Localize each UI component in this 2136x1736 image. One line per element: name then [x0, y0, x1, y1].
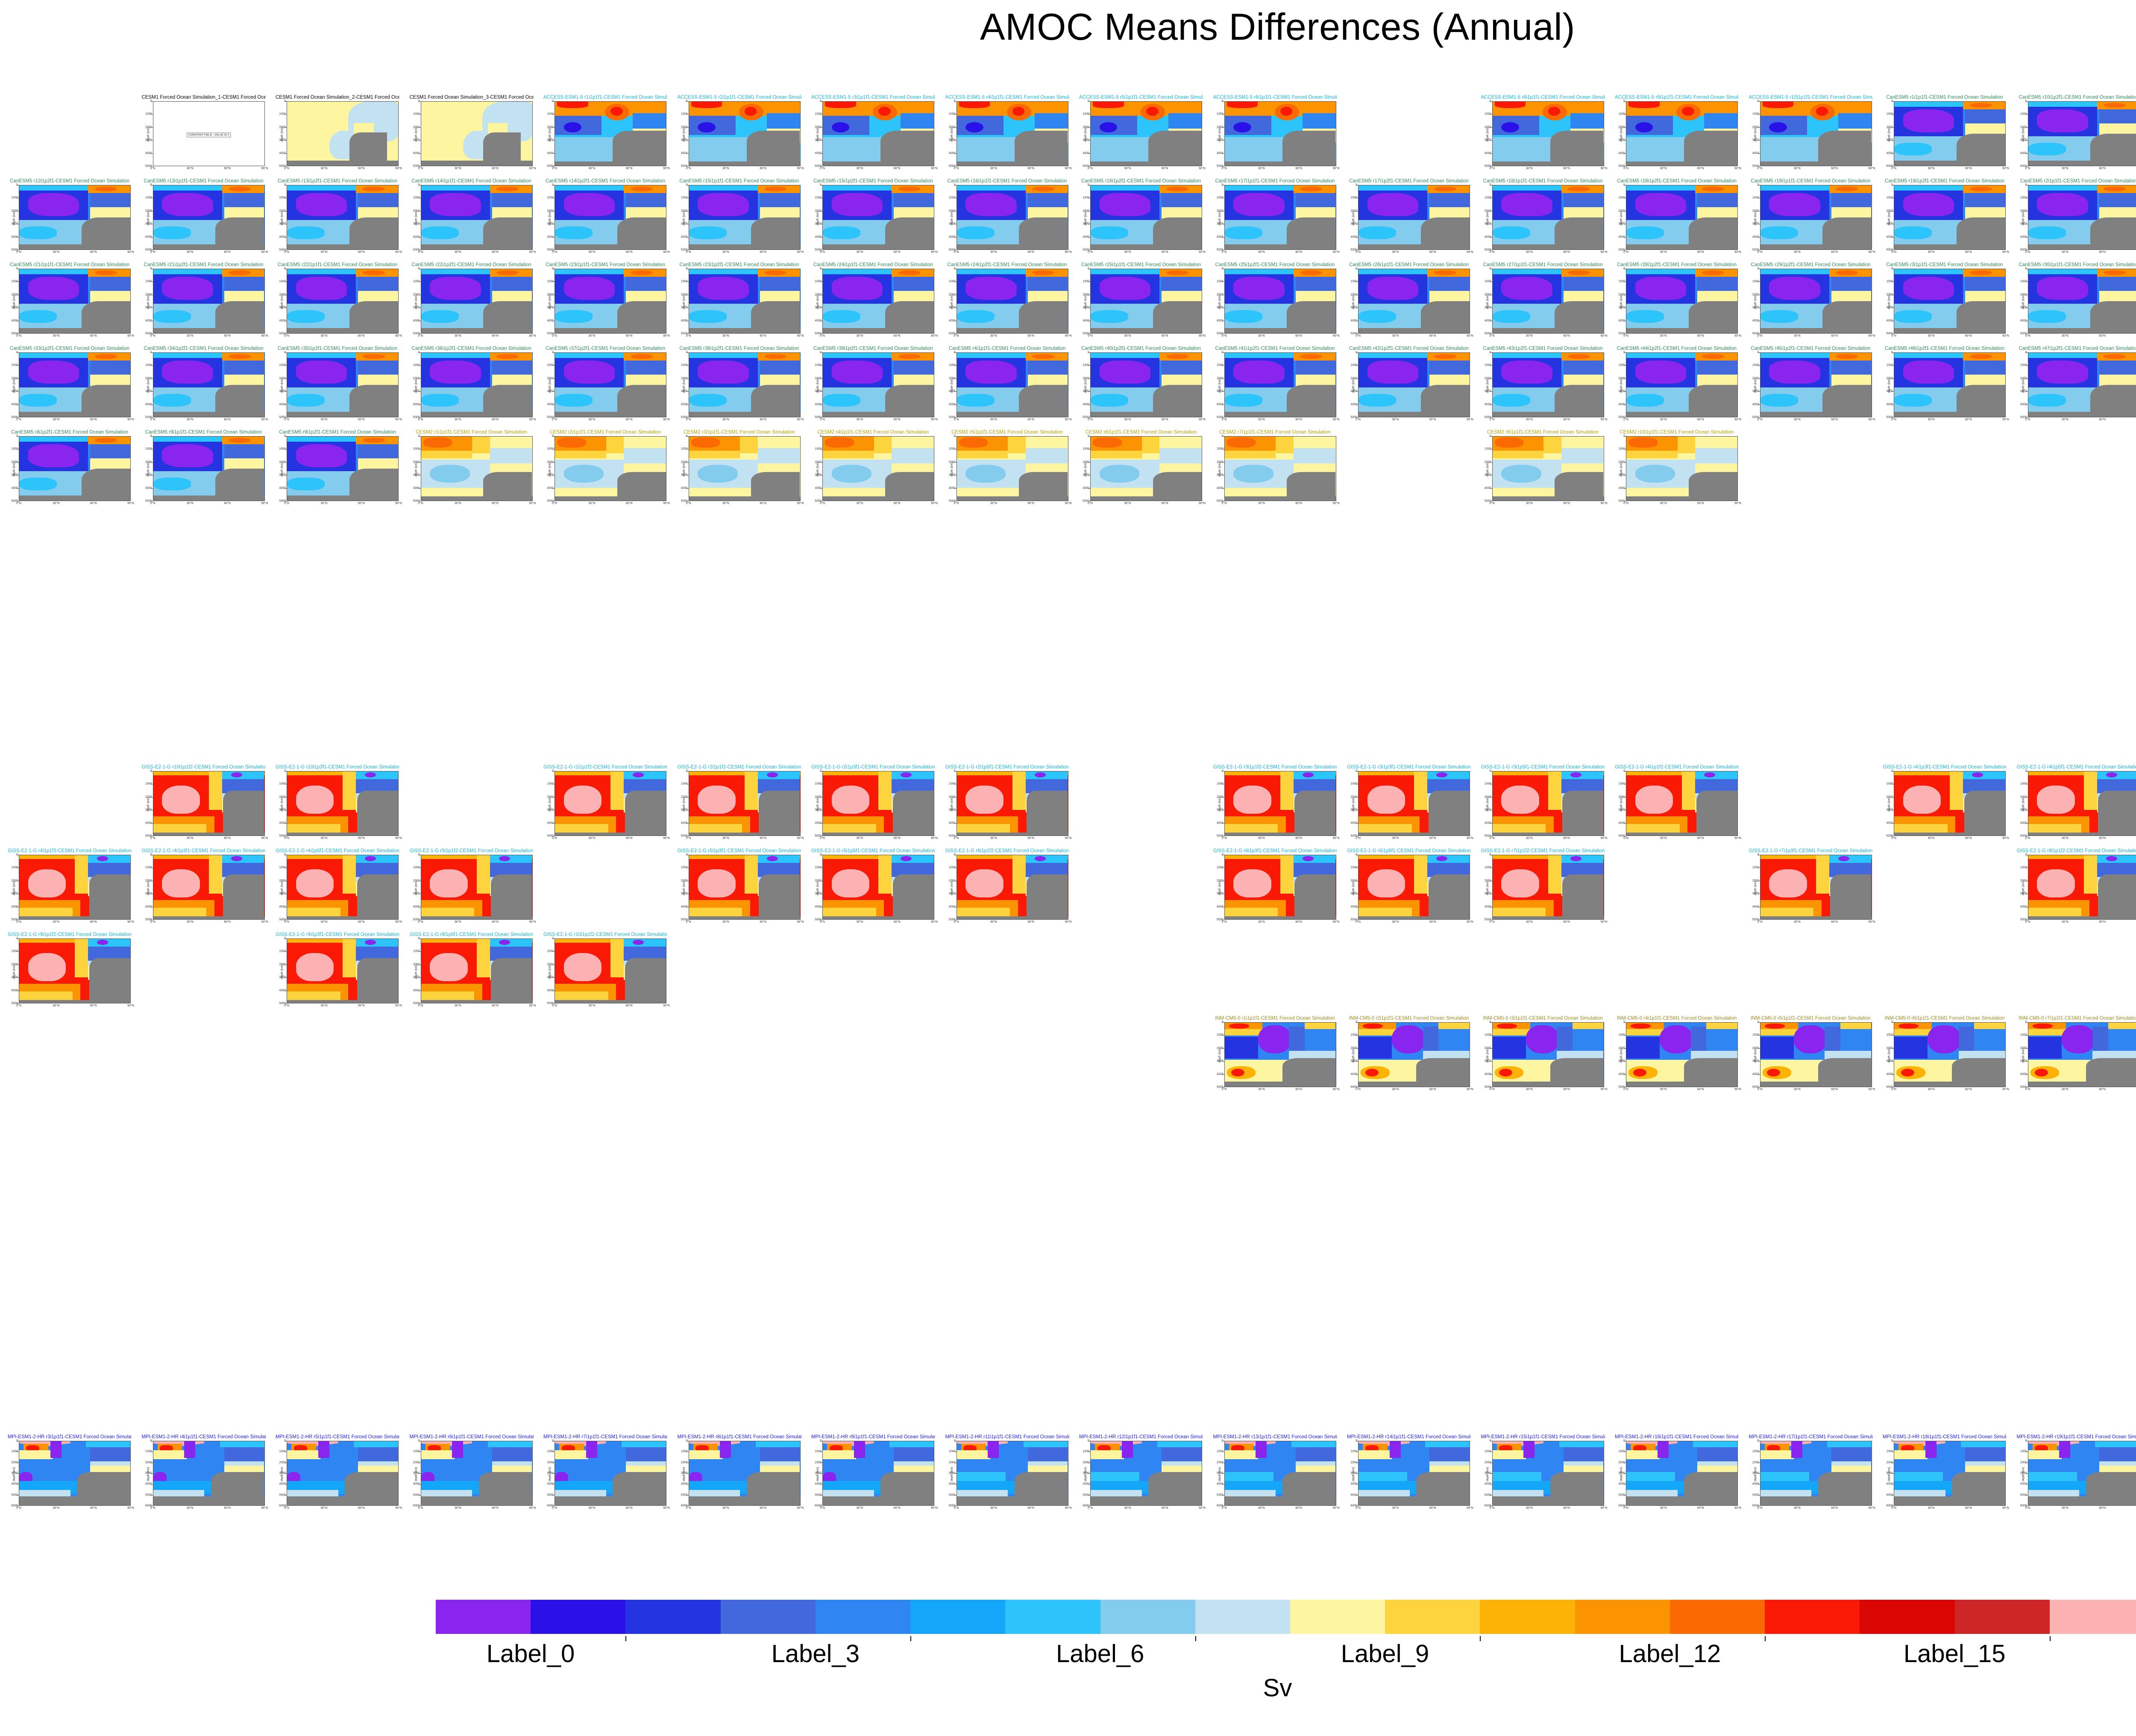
panel-plot-area[interactable] — [555, 185, 666, 250]
panel-plot-area[interactable] — [1358, 269, 1470, 334]
panel-plot-area[interactable] — [421, 855, 533, 920]
panel-y-tick-mark — [820, 269, 822, 269]
panel-plot-area[interactable] — [421, 938, 533, 1003]
amoc-panel[interactable]: CanESM5 r25i1p1f1-CESM1 Forced Ocean Sim… — [1079, 262, 1203, 341]
panel-plot-area[interactable] — [1894, 771, 2006, 836]
amoc-panel[interactable]: CESM2 r4i1p1f1-CESM1 Forced Ocean Simula… — [811, 430, 935, 509]
fill-orange-core — [1970, 103, 1992, 108]
amoc-panel[interactable]: CanESM5 r15i1p1f1-CESM1 Forced Ocean Sim… — [678, 179, 801, 258]
panel-plot-area[interactable] — [555, 436, 666, 501]
panel-plot-area[interactable] — [1626, 185, 1738, 250]
panel-y-tick-mark — [419, 881, 421, 881]
panel-plot-area[interactable] — [153, 771, 265, 836]
amoc-panel[interactable]: MPI-ESM1-2-HR r11i1p1f1-CESM1 Forced Oce… — [945, 1434, 1069, 1513]
panel-plot-area[interactable] — [421, 352, 533, 417]
amoc-panel[interactable]: CanESM5 r23i1p2f1-CESM1 Forced Ocean Sim… — [678, 262, 801, 341]
panel-plot-area[interactable] — [1224, 101, 1336, 166]
amoc-panel[interactable]: CanESM5 r8i1p2f1-CESM1 Forced Ocean Simu… — [8, 430, 132, 509]
panel-y-tick-mark — [1222, 1048, 1224, 1049]
amoc-panel[interactable]: ACCESS-ESM1-5 r9i1p1f1-CESM1 Forced Ocea… — [1615, 95, 1739, 174]
amoc-panel[interactable]: CanESM5 r9i1p2f1-CESM1 Forced Ocean Simu… — [276, 430, 399, 509]
panel-y-tick-mark — [151, 237, 153, 238]
fill-paleblue-lower — [1358, 1490, 1410, 1496]
panel-plot-area[interactable] — [957, 436, 1068, 501]
amoc-panel[interactable]: CanESM5 r10i1p2f1-CESM1 Forced Ocean Sim… — [2017, 95, 2136, 174]
amoc-panel[interactable]: CanESM5 r43i1p2f1-CESM1 Forced Ocean Sim… — [1481, 346, 1605, 425]
panel-plot-area[interactable] — [1224, 269, 1336, 334]
amoc-panel[interactable]: GISS-E2-1-G r4i1p3f1-CESM1 Forced Ocean … — [1883, 765, 2007, 844]
panel-plot-area[interactable] — [153, 436, 265, 501]
panel-plot-area[interactable] — [287, 771, 399, 836]
amoc-panel[interactable]: CanESM5 r2i1p1f1-CESM1 Forced Ocean Simu… — [2017, 179, 2136, 258]
amoc-panel[interactable]: MPI-ESM1-2-HR r4i1p1f1-CESM1 Forced Ocea… — [142, 1434, 266, 1513]
panel-plot-area[interactable] — [1358, 352, 1470, 417]
fill-pink-core — [430, 869, 467, 897]
panel-plot-area[interactable] — [1090, 185, 1202, 250]
panel-plot-area[interactable] — [822, 269, 934, 334]
amoc-panel[interactable]: GISS-E2-1-G r2i1p3f1-CESM1 Forced Ocean … — [811, 765, 935, 844]
seafloor-base — [153, 412, 264, 417]
panel-y-tick-mark — [687, 836, 689, 836]
amoc-panel[interactable]: CanESM5 r14i1p1f1-CESM1 Forced Ocean Sim… — [410, 179, 534, 258]
amoc-panel[interactable]: CanESM5 r46i1p2f1-CESM1 Forced Ocean Sim… — [1883, 346, 2007, 425]
amoc-panel[interactable]: GISS-E2-1-G r3i1p1f2-CESM1 Forced Ocean … — [1213, 765, 1337, 844]
amoc-panel[interactable]: CanESM5 r18i1p1f1-CESM1 Forced Ocean Sim… — [1481, 179, 1605, 258]
panel-plot-area[interactable] — [1224, 1441, 1336, 1506]
amoc-panel[interactable]: INM-CM5-0 r5i1p1f1-CESM1 Forced Ocean Si… — [1749, 1016, 1873, 1095]
amoc-panel[interactable]: GISS-E2-1-G r3i1p3f1-CESM1 Forced Ocean … — [1347, 765, 1471, 844]
panel-plot-area[interactable] — [555, 1441, 666, 1506]
panel-plot-area[interactable] — [2028, 269, 2136, 334]
amoc-panel[interactable]: CESM1 Forced Ocean Simulation_3-CESM1 Fo… — [410, 95, 534, 174]
amoc-panel[interactable]: MPI-ESM1-2-HR r13i1p1f1-CESM1 Forced Oce… — [1213, 1434, 1337, 1513]
seafloor-base — [555, 1000, 666, 1003]
panel-plot-area[interactable] — [1090, 269, 1202, 334]
amoc-panel[interactable]: MPI-ESM1-2-HR r15i1p1f1-CESM1 Forced Oce… — [1481, 1434, 1605, 1513]
panel-plot-area[interactable] — [153, 352, 265, 417]
panel-title: MPI-ESM1-2-HR r9i1p1f1-CESM1 Forced Ocea… — [811, 1434, 935, 1440]
panel-x-tick-label: 60°N — [894, 418, 901, 421]
panel-plot-area[interactable] — [1492, 855, 1604, 920]
fill-cyan-deep — [1493, 226, 1530, 239]
panel-plot-area[interactable] — [2028, 1022, 2136, 1087]
panel-plot-area[interactable] — [822, 771, 934, 836]
fill-purple-speck — [1436, 856, 1447, 861]
amoc-panel[interactable]: ACCESS-ESM1-5 r3i1p1f1-CESM1 Forced Ocea… — [811, 95, 935, 174]
panel-x-tick-label: 90°N — [529, 1004, 536, 1007]
panel-plot-area[interactable] — [1626, 1022, 1738, 1087]
amoc-panel[interactable]: CESM2 r2i1p1f1-CESM1 Forced Ocean Simula… — [543, 430, 667, 509]
amoc-panel[interactable]: MPI-ESM1-2-HR r12i1p1f1-CESM1 Forced Oce… — [1079, 1434, 1203, 1513]
amoc-panel[interactable]: GISS-E2-1-G r2i1p1f2-CESM1 Forced Ocean … — [678, 765, 801, 844]
amoc-panel[interactable]: GISS-E2-1-G r6i1p1f2-CESM1 Forced Ocean … — [945, 848, 1069, 927]
amoc-panel[interactable]: MPI-ESM1-2-HR r7i1p1f1-CESM1 Forced Ocea… — [543, 1434, 667, 1513]
panel-plot-area[interactable] — [957, 771, 1068, 836]
fill-pink-core — [28, 953, 66, 981]
amoc-panel[interactable]: CanESM5 r45i1p2f1-CESM1 Forced Ocean Sim… — [1749, 346, 1873, 425]
amoc-panel[interactable]: CESM2 r1i1p1f1-CESM1 Forced Ocean Simula… — [410, 430, 534, 509]
amoc-panel[interactable]: GISS-E2-1-G r9i1p1f2-CESM1 Forced Ocean … — [8, 932, 132, 1011]
panel-y-tick-mark — [687, 810, 689, 810]
panel-plot-area[interactable] — [957, 101, 1068, 166]
panel-plot-area[interactable] — [555, 269, 666, 334]
panel-plot-area[interactable] — [1358, 185, 1470, 250]
panel-plot-area[interactable] — [957, 352, 1068, 417]
amoc-panel[interactable]: GISS-E2-1-G r6i1p5f1-CESM1 Forced Ocean … — [1347, 848, 1471, 927]
panel-y-tick-mark — [552, 951, 555, 952]
amoc-panel[interactable]: CanESM5 r1i1p1f1-CESM1 Forced Ocean Simu… — [1883, 95, 2007, 174]
panel-y-tick-mark — [1624, 365, 1626, 366]
amoc-panel[interactable]: CESM2 r6i1p1f1-CESM1 Forced Ocean Simula… — [1079, 430, 1203, 509]
panel-plot-area[interactable]: CONSTANT FIELD - VALUE IS 0 — [153, 101, 265, 166]
amoc-panel[interactable]: CanESM5 r18i1p2f1-CESM1 Forced Ocean Sim… — [1615, 179, 1739, 258]
amoc-panel[interactable]: CanESM5 r44i1p2f1-CESM1 Forced Ocean Sim… — [1615, 346, 1739, 425]
panel-plot-area[interactable] — [1760, 1022, 1872, 1087]
panel-plot-area[interactable] — [822, 352, 934, 417]
panel-plot-area[interactable] — [421, 436, 533, 501]
panel-plot-area[interactable] — [689, 771, 801, 836]
amoc-panel[interactable]: ACCESS-ESM1-5 r2i1p1f1-CESM1 Forced Ocea… — [678, 95, 801, 174]
panel-plot-area[interactable] — [421, 185, 533, 250]
amoc-panel[interactable]: CanESM5 r22i1p1f1-CESM1 Forced Ocean Sim… — [276, 262, 399, 341]
panel-plot-area[interactable] — [1358, 1441, 1470, 1506]
fill-blue-right — [1691, 1026, 1706, 1051]
amoc-panel[interactable]: GISS-E2-1-G r10i1p1f2-CESM1 Forced Ocean… — [142, 765, 266, 844]
fill-blue-ne — [1296, 277, 1336, 291]
fill-orange-core — [1093, 437, 1122, 448]
panel-title: CanESM5 r29i1p2f1-CESM1 Forced Ocean Sim… — [1749, 262, 1873, 268]
amoc-panel[interactable]: CanESM5 r4i1p1f1-CESM1 Forced Ocean Simu… — [945, 346, 1069, 425]
panel-plot-area[interactable] — [1492, 269, 1604, 334]
panel-plot-area[interactable] — [421, 101, 533, 166]
panel-title: CanESM5 r28i1p2f1-CESM1 Forced Ocean Sim… — [1615, 262, 1739, 268]
amoc-panel[interactable]: GISS-E2-1-G r10i1p1f2-CESM1 Forced Ocean… — [543, 932, 667, 1011]
amoc-panel[interactable]: GISS-E2-1-G r2i1p5f1-CESM1 Forced Ocean … — [945, 765, 1069, 844]
amoc-panel[interactable]: CanESM5 r14i1p2f1-CESM1 Forced Ocean Sim… — [543, 179, 667, 258]
amoc-panel[interactable]: CanESM5 r23i1p1f1-CESM1 Forced Ocean Sim… — [543, 262, 667, 341]
panel-x-tick-label: 30°N — [722, 1507, 729, 1510]
amoc-panel[interactable]: GISS-E2-1-G r9i1p3f1-CESM1 Forced Ocean … — [276, 932, 399, 1011]
panel-plot-area[interactable] — [822, 185, 934, 250]
panel-plot-area[interactable] — [689, 185, 801, 250]
panel-plot-area[interactable] — [153, 855, 265, 920]
amoc-panel[interactable]: ACCESS-ESM1-5 r6i1p1f1-CESM1 Forced Ocea… — [1213, 95, 1337, 174]
panel-plot-area[interactable] — [19, 938, 131, 1003]
panel-plot-area[interactable] — [153, 185, 265, 250]
panel-plot-area[interactable] — [689, 352, 801, 417]
amoc-panel[interactable]: INM-CM5-0 r2i1p1f1-CESM1 Forced Ocean Si… — [1347, 1016, 1471, 1095]
panel-plot-area[interactable] — [1894, 1022, 2006, 1087]
amoc-panel[interactable]: CanESM5 r35i1p2f1-CESM1 Forced Ocean Sim… — [276, 346, 399, 425]
panel-plot-area[interactable] — [1224, 855, 1336, 920]
panel-plot-area[interactable] — [1492, 352, 1604, 417]
amoc-panel[interactable]: CESM2 r9i1p1f1-CESM1 Forced Ocean Simula… — [1481, 430, 1605, 509]
panel-plot-area[interactable] — [957, 855, 1068, 920]
panel-plot-area[interactable] — [689, 1441, 801, 1506]
amoc-panel[interactable]: CanESM5 r21i1p1f1-CESM1 Forced Ocean Sim… — [8, 262, 132, 341]
panel-plot-area[interactable] — [555, 101, 666, 166]
amoc-panel[interactable]: CanESM5 r24i1p1f1-CESM1 Forced Ocean Sim… — [811, 262, 935, 341]
panel-x-tick-label: 0°N — [954, 502, 959, 505]
amoc-panel[interactable]: CanESM5 r19i1p2f1-CESM1 Forced Ocean Sim… — [1883, 179, 2007, 258]
panel-y-tick-mark — [1490, 784, 1492, 784]
amoc-panel[interactable]: CanESM5 r3i1p1f1-CESM1 Forced Ocean Simu… — [1883, 262, 2007, 341]
amoc-panel[interactable]: CESM2 r3i1p1f1-CESM1 Forced Ocean Simula… — [678, 430, 801, 509]
panel-x-tick-label: 30°N — [1258, 837, 1265, 840]
panel-plot-area[interactable] — [1090, 352, 1202, 417]
seafloor-base — [1894, 244, 2005, 249]
amoc-panel[interactable]: CESM2 r5i1p1f1-CESM1 Forced Ocean Simula… — [945, 430, 1069, 509]
fill-red-deep — [1767, 1069, 1780, 1076]
amoc-panel[interactable]: INM-CM5-0 r6i1p1f1-CESM1 Forced Ocean Si… — [1883, 1016, 2007, 1095]
amoc-panel[interactable]: MPI-ESM1-2-HR r5i1p1f1-CESM1 Forced Ocea… — [276, 1434, 399, 1513]
amoc-panel[interactable]: CanESM5 r39i1p2f1-CESM1 Forced Ocean Sim… — [811, 346, 935, 425]
fill-purple-core — [1501, 277, 1552, 300]
amoc-panel[interactable]: CanESM5 r36i1p2f1-CESM1 Forced Ocean Sim… — [410, 346, 534, 425]
panel-title: CanESM5 r25i1p2f1-CESM1 Forced Ocean Sim… — [1213, 262, 1337, 268]
panel-x-tick-label: 0°N — [150, 1507, 156, 1510]
panel-plot-area[interactable] — [2028, 101, 2136, 166]
amoc-panel[interactable]: INM-CM5-0 r4i1p1f1-CESM1 Forced Ocean Si… — [1615, 1016, 1739, 1095]
amoc-panel[interactable]: MPI-ESM1-2-HR r8i1p1f1-CESM1 Forced Ocea… — [678, 1434, 801, 1513]
panel-plot-area[interactable] — [689, 101, 801, 166]
amoc-panel[interactable]: CanESM5 r15i1p2f1-CESM1 Forced Ocean Sim… — [811, 179, 935, 258]
panel-plot-area[interactable] — [1894, 352, 2006, 417]
panel-plot-area[interactable] — [555, 938, 666, 1003]
panel-plot-area[interactable] — [1626, 436, 1738, 501]
panel-plot-area[interactable] — [1760, 269, 1872, 334]
panel-plot-area[interactable] — [822, 1441, 934, 1506]
panel-plot-area[interactable] — [1358, 1022, 1470, 1087]
amoc-panel[interactable]: CanESM5 r9i1p1f1-CESM1 Forced Ocean Simu… — [142, 430, 266, 509]
panel-plot-area[interactable] — [19, 352, 131, 417]
panel-x-tick-label: 60°N — [1295, 418, 1302, 421]
panel-x-ticks: 0°N30°N60°N90°N — [957, 502, 1068, 508]
panel-title: MPI-ESM1-2-HR r3i1p1f1-CESM1 Forced Ocea… — [8, 1434, 132, 1440]
panel-plot-area[interactable] — [2028, 352, 2136, 417]
amoc-panel[interactable]: CanESM5 r25i1p2f1-CESM1 Forced Ocean Sim… — [1213, 262, 1337, 341]
panel-plot-area[interactable] — [1090, 101, 1202, 166]
panel-plot-area[interactable] — [1626, 352, 1738, 417]
amoc-panel[interactable]: CanESM5 r34i1p2f1-CESM1 Forced Ocean Sim… — [142, 346, 266, 425]
amoc-panel[interactable]: CESM2 r7i1p1f1-CESM1 Forced Ocean Simula… — [1213, 430, 1337, 509]
panel-y-tick-mark — [552, 488, 555, 489]
panel-plot-area[interactable] — [19, 855, 131, 920]
amoc-panel[interactable]: ACCESS-ESM1-5 r1i1p1f1-CESM1 Forced Ocea… — [543, 95, 667, 174]
amoc-panel[interactable]: GISS-E2-1-G r7i1p1f2-CESM1 Forced Ocean … — [1481, 848, 1605, 927]
amoc-panel[interactable]: MPI-ESM1-2-HR r9i1p1f1-CESM1 Forced Ocea… — [811, 1434, 935, 1513]
panel-y-tick-mark — [17, 1495, 19, 1496]
panel-plot-area[interactable] — [1760, 185, 1872, 250]
panel-plot-area[interactable] — [1492, 1022, 1604, 1087]
panel-plot-area[interactable] — [1492, 1441, 1604, 1506]
panel-plot-area[interactable] — [822, 101, 934, 166]
panel-x-tick-label: 90°N — [797, 334, 804, 337]
panel-plot-area[interactable] — [2028, 185, 2136, 250]
panel-plot-area[interactable] — [1492, 101, 1604, 166]
amoc-panel[interactable]: ACCESS-ESM1-5 r10i1p1f1-CESM1 Forced Oce… — [1749, 95, 1873, 174]
panel-plot-area[interactable] — [822, 855, 934, 920]
amoc-panel[interactable]: GISS-E2-1-G r6i1p3f1-CESM1 Forced Ocean … — [1213, 848, 1337, 927]
panel-x-ticks: 0°N30°N60°N90°N — [19, 502, 131, 508]
amoc-panel[interactable]: GISS-E2-1-G r1i1p1f2-CESM1 Forced Ocean … — [543, 765, 667, 844]
amoc-panel[interactable]: CanESM5 r47i1p2f1-CESM1 Forced Ocean Sim… — [2017, 346, 2136, 425]
amoc-panel[interactable]: CanESM5 r42i1p2f1-CESM1 Forced Ocean Sim… — [1347, 346, 1471, 425]
panel-y-tick-mark — [1490, 114, 1492, 114]
panel-plot-area[interactable] — [1090, 1441, 1202, 1506]
panel-plot-area[interactable] — [1626, 269, 1738, 334]
panel-title: GISS-E2-1-G r9i1p3f1-CESM1 Forced Ocean … — [276, 932, 399, 938]
amoc-panel[interactable]: CanESM5 r13i1p2f1-CESM1 Forced Ocean Sim… — [276, 179, 399, 258]
panel-plot-area[interactable] — [287, 352, 399, 417]
panel-plot-area[interactable] — [153, 269, 265, 334]
panel-plot-area[interactable] — [1894, 101, 2006, 166]
amoc-panel[interactable]: GISS-E2-1-G r5i1p5f1-CESM1 Forced Ocean … — [811, 848, 935, 927]
amoc-panel[interactable]: GISS-E2-1-G r4i1p1f2-CESM1 Forced Ocean … — [1615, 765, 1739, 844]
panel-plot-area[interactable] — [1224, 771, 1336, 836]
amoc-panel[interactable]: CanESM5 r19i1p1f1-CESM1 Forced Ocean Sim… — [1749, 179, 1873, 258]
panel-plot-area[interactable] — [287, 436, 399, 501]
panel-plot-area[interactable] — [287, 269, 399, 334]
panel-y-tick-mark — [954, 462, 957, 463]
panel-y-tick-mark — [1222, 405, 1224, 405]
panel-plot-area[interactable] — [555, 771, 666, 836]
amoc-panel[interactable]: CanESM5 r37i1p2f1-CESM1 Forced Ocean Sim… — [543, 346, 667, 425]
amoc-panel[interactable]: CanESM5 r30i1p1f1-CESM1 Forced Ocean Sim… — [2017, 262, 2136, 341]
panel-plot-area[interactable] — [1760, 101, 1872, 166]
panel-plot-area[interactable] — [957, 269, 1068, 334]
panel-plot-area[interactable] — [287, 185, 399, 250]
panel-plot-area[interactable] — [1492, 436, 1604, 501]
panel-plot-area[interactable] — [1760, 352, 1872, 417]
panel-plot-area[interactable] — [957, 185, 1068, 250]
panel-plot-area[interactable] — [421, 1441, 533, 1506]
amoc-panel[interactable]: CanESM5 r17i1p1f1-CESM1 Forced Ocean Sim… — [1213, 179, 1337, 258]
panel-plot-area[interactable] — [19, 269, 131, 334]
panel-plot-area[interactable] — [19, 185, 131, 250]
panel-plot-area[interactable] — [2028, 771, 2136, 836]
panel-plot-area[interactable] — [287, 1441, 399, 1506]
amoc-panel[interactable]: CESM1 Forced Ocean Simulation_1-CESM1 Fo… — [142, 95, 266, 174]
amoc-panel[interactable]: CanESM5 r21i1p2f1-CESM1 Forced Ocean Sim… — [142, 262, 266, 341]
amoc-panel[interactable]: CanESM5 r22i1p2f1-CESM1 Forced Ocean Sim… — [410, 262, 534, 341]
panel-x-tick-label: 60°N — [2099, 167, 2106, 170]
amoc-panel[interactable]: CanESM5 r16i1p1f1-CESM1 Forced Ocean Sim… — [945, 179, 1069, 258]
panel-y-tick-mark — [151, 436, 153, 437]
panel-plot-area[interactable] — [1894, 269, 2006, 334]
amoc-panel[interactable]: CanESM5 r12i1p2f1-CESM1 Forced Ocean Sim… — [8, 179, 132, 258]
panel-plot-area[interactable] — [287, 855, 399, 920]
panel-plot-area[interactable] — [957, 1441, 1068, 1506]
panel-y-tick-mark — [954, 823, 957, 824]
panel-plot-area[interactable] — [1894, 185, 2006, 250]
panel-plot-area[interactable] — [287, 101, 399, 166]
panel-plot-area[interactable] — [689, 436, 801, 501]
amoc-panel[interactable]: GISS-E2-1-G r4i1p1f3-CESM1 Forced Ocean … — [8, 848, 132, 927]
seafloor-base — [689, 1496, 800, 1505]
amoc-panel[interactable]: GISS-E2-1-G r3i1p5f1-CESM1 Forced Ocean … — [1481, 765, 1605, 844]
panel-plot-area[interactable] — [19, 436, 131, 501]
panel-plot-area[interactable] — [689, 269, 801, 334]
panel-y-tick-mark — [1758, 237, 1760, 238]
amoc-panel[interactable]: CanESM5 r13i1p1f1-CESM1 Forced Ocean Sim… — [142, 179, 266, 258]
amoc-panel[interactable]: CanESM5 r29i1p2f1-CESM1 Forced Ocean Sim… — [1749, 262, 1873, 341]
amoc-panel[interactable]: CESM1 Forced Ocean Simulation_2-CESM1 Fo… — [276, 95, 399, 174]
amoc-panel[interactable]: GISS-E2-1-G r4i1p5f1-CESM1 Forced Ocean … — [2017, 765, 2136, 844]
amoc-panel[interactable]: GISS-E2-1-G r10i1p3f1-CESM1 Forced Ocean… — [276, 765, 399, 844]
amoc-panel[interactable]: ACCESS-ESM1-5 r8i1p1f1-CESM1 Forced Ocea… — [1481, 95, 1605, 174]
panel-plot-area[interactable] — [1760, 855, 1872, 920]
panel-plot-area[interactable] — [1224, 185, 1336, 250]
panel-plot-area[interactable] — [555, 352, 666, 417]
amoc-panel[interactable]: GISS-E2-1-G r7i1p3f1-CESM1 Forced Ocean … — [1749, 848, 1873, 927]
amoc-panel[interactable]: CanESM5 r33i1p2f1-CESM1 Forced Ocean Sim… — [8, 346, 132, 425]
panel-plot-area[interactable] — [1492, 185, 1604, 250]
amoc-panel[interactable]: CanESM5 r24i1p2f1-CESM1 Forced Ocean Sim… — [945, 262, 1069, 341]
fill-purple-core — [28, 277, 79, 300]
amoc-panel[interactable]: ACCESS-ESM1-5 r4i1p1f1-CESM1 Forced Ocea… — [945, 95, 1069, 174]
fill-yellow-top — [1760, 1029, 1798, 1035]
panel-plot-area[interactable] — [153, 1441, 265, 1506]
panel-plot-area[interactable] — [1224, 1022, 1336, 1087]
panel-plot-area[interactable] — [1090, 436, 1202, 501]
amoc-panel[interactable]: GISS-E2-1-G r4i1p3f1-CESM1 Forced Ocean … — [142, 848, 266, 927]
panel-plot-area[interactable] — [2028, 855, 2136, 920]
panel-plot-area[interactable] — [1626, 771, 1738, 836]
panel-plot-area[interactable] — [1492, 771, 1604, 836]
panel-plot-area[interactable] — [1358, 855, 1470, 920]
amoc-panel[interactable]: INM-CM5-0 r1i1p1f1-CESM1 Forced Ocean Si… — [1213, 1016, 1337, 1095]
amoc-panel[interactable]: CanESM5 r28i1p2f1-CESM1 Forced Ocean Sim… — [1615, 262, 1739, 341]
amoc-panel[interactable]: GISS-E2-1-G r5i1p1f2-CESM1 Forced Ocean … — [410, 848, 534, 927]
amoc-panel[interactable]: GISS-E2-1-G r9i1p5f1-CESM1 Forced Ocean … — [410, 932, 534, 1011]
amoc-panel[interactable]: GISS-E2-1-G r4i1p5f1-CESM1 Forced Ocean … — [276, 848, 399, 927]
amoc-panel[interactable]: CanESM5 r17i1p2f1-CESM1 Forced Ocean Sim… — [1347, 179, 1471, 258]
panel-plot-area[interactable] — [1224, 436, 1336, 501]
amoc-panel[interactable]: MPI-ESM1-2-HR r14i1p1f1-CESM1 Forced Oce… — [1347, 1434, 1471, 1513]
panel-plot-area[interactable] — [287, 938, 399, 1003]
panel-x-tick-label: 60°N — [492, 251, 499, 254]
amoc-panel[interactable]: CanESM5 r38i1p2f1-CESM1 Forced Ocean Sim… — [678, 346, 801, 425]
panel-y-tick-mark — [820, 140, 822, 141]
amoc-panel[interactable]: INM-CM5-0 r7i1p1f1-CESM1 Forced Ocean Si… — [2017, 1016, 2136, 1095]
amoc-panel[interactable]: ACCESS-ESM1-5 r5i1p1f1-CESM1 Forced Ocea… — [1079, 95, 1203, 174]
amoc-panel[interactable]: INM-CM5-0 r3i1p1f1-CESM1 Forced Ocean Si… — [1481, 1016, 1605, 1095]
amoc-panel[interactable]: GISS-E2-1-G r8i1p1f2-CESM1 Forced Ocean … — [2017, 848, 2136, 927]
amoc-panel[interactable]: CanESM5 r26i1p1f1-CESM1 Forced Ocean Sim… — [1347, 262, 1471, 341]
amoc-panel[interactable]: CanESM5 r40i1p2f1-CESM1 Forced Ocean Sim… — [1079, 346, 1203, 425]
amoc-panel[interactable]: MPI-ESM1-2-HR r3i1p1f1-CESM1 Forced Ocea… — [8, 1434, 132, 1513]
panel-plot-area[interactable] — [1358, 771, 1470, 836]
amoc-panel[interactable]: MPI-ESM1-2-HR r6i1p1f1-CESM1 Forced Ocea… — [410, 1434, 534, 1513]
panel-y-tick-mark — [2026, 868, 2028, 868]
panel-plot-area[interactable] — [421, 269, 533, 334]
panel-plot-area[interactable] — [1626, 101, 1738, 166]
panel-plot-area[interactable] — [1224, 352, 1336, 417]
amoc-panel[interactable]: CESM2 r10i1p1f1-CESM1 Forced Ocean Simul… — [1615, 430, 1739, 509]
seafloor-base — [823, 412, 934, 417]
amoc-panel[interactable]: CanESM5 r27i1p1f1-CESM1 Forced Ocean Sim… — [1481, 262, 1605, 341]
fill-blue-mid — [1358, 1037, 1392, 1059]
panel-x-ticks: 0°N30°N60°N90°N — [287, 251, 399, 257]
panel-x-tick-label: 90°N — [1199, 167, 1206, 170]
amoc-panel[interactable]: GISS-E2-1-G r5i1p3f1-CESM1 Forced Ocean … — [678, 848, 801, 927]
amoc-panel[interactable]: CanESM5 r16i1p2f1-CESM1 Forced Ocean Sim… — [1079, 179, 1203, 258]
panel-plot-area[interactable] — [19, 1441, 131, 1506]
panel-plot-area[interactable] — [689, 855, 801, 920]
amoc-panel[interactable]: CanESM5 r41i1p2f1-CESM1 Forced Ocean Sim… — [1213, 346, 1337, 425]
panel-plot-area[interactable] — [822, 436, 934, 501]
